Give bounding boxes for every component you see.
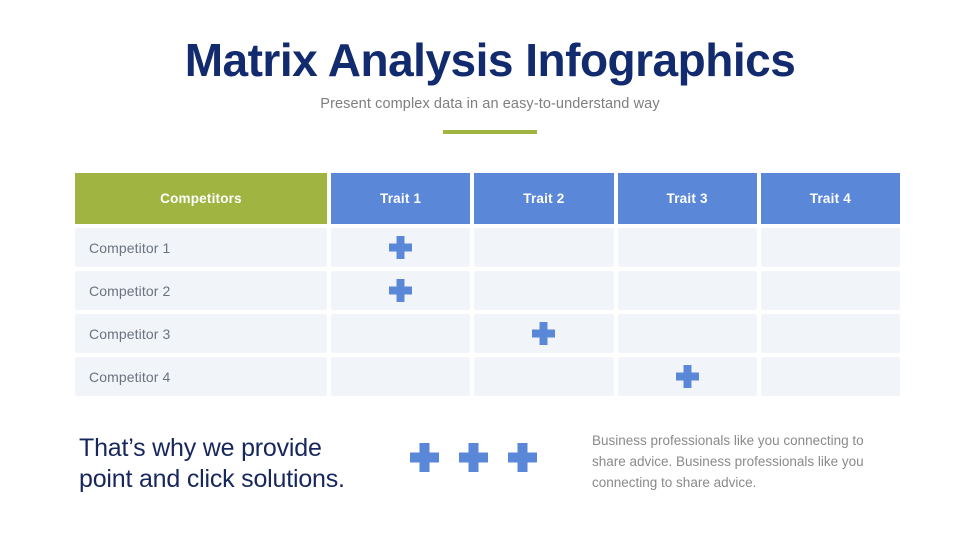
plus-icon [389, 236, 412, 259]
matrix-cell-trait-3[interactable] [618, 357, 757, 396]
row-label: Competitor 3 [89, 326, 170, 342]
plus-icon [459, 443, 488, 472]
column-header-competitors[interactable]: Competitors [75, 173, 327, 224]
matrix-cell-trait-4[interactable] [761, 271, 900, 310]
column-header-trait-2[interactable]: Trait 2 [474, 173, 613, 224]
plus-icon [532, 322, 555, 345]
row-name-cell[interactable]: Competitor 3 [75, 314, 327, 353]
matrix-cell-trait-2[interactable] [474, 228, 613, 267]
matrix-cell-trait-2[interactable] [474, 314, 613, 353]
column-header-label: Trait 4 [810, 191, 851, 206]
column-header-trait-3[interactable]: Trait 3 [618, 173, 757, 224]
table-row: Competitor 1 [75, 228, 900, 267]
bottom-headline-line-1: That’s why we provide [79, 433, 399, 464]
table-row: Competitor 4 [75, 357, 900, 396]
row-name-cell[interactable]: Competitor 4 [75, 357, 327, 396]
column-header-label: Competitors [160, 191, 242, 206]
bottom-plus-icon-group [410, 443, 537, 472]
row-name-cell[interactable]: Competitor 1 [75, 228, 327, 267]
matrix-cell-trait-1[interactable] [331, 357, 470, 396]
page-subtitle: Present complex data in an easy-to-under… [0, 96, 980, 112]
matrix-cell-trait-2[interactable] [474, 357, 613, 396]
row-name-cell[interactable]: Competitor 2 [75, 271, 327, 310]
bottom-headline: That’s why we provide point and click so… [79, 433, 399, 495]
row-label: Competitor 2 [89, 283, 170, 299]
plus-icon [410, 443, 439, 472]
column-header-trait-1[interactable]: Trait 1 [331, 173, 470, 224]
page-title: Matrix Analysis Infographics [0, 36, 980, 84]
table-header-row: Competitors Trait 1 Trait 2 Trait 3 Trai… [75, 173, 900, 224]
plus-icon [676, 365, 699, 388]
matrix-cell-trait-4[interactable] [761, 314, 900, 353]
bottom-section: That’s why we provide point and click so… [0, 425, 980, 535]
matrix-cell-trait-1[interactable] [331, 271, 470, 310]
matrix-cell-trait-4[interactable] [761, 357, 900, 396]
plus-icon [389, 279, 412, 302]
page-header: Matrix Analysis Infographics Present com… [0, 0, 980, 134]
plus-icon [508, 443, 537, 472]
table-body: Competitor 1Competitor 2Competitor 3Comp… [75, 228, 900, 396]
matrix-cell-trait-3[interactable] [618, 228, 757, 267]
matrix-table: Competitors Trait 1 Trait 2 Trait 3 Trai… [75, 173, 900, 400]
table-row: Competitor 2 [75, 271, 900, 310]
column-header-trait-4[interactable]: Trait 4 [761, 173, 900, 224]
matrix-cell-trait-1[interactable] [331, 314, 470, 353]
matrix-cell-trait-4[interactable] [761, 228, 900, 267]
column-header-label: Trait 3 [667, 191, 708, 206]
matrix-cell-trait-1[interactable] [331, 228, 470, 267]
row-label: Competitor 4 [89, 369, 170, 385]
row-label: Competitor 1 [89, 240, 170, 256]
accent-divider [443, 130, 537, 134]
matrix-cell-trait-2[interactable] [474, 271, 613, 310]
column-header-label: Trait 1 [380, 191, 421, 206]
column-header-label: Trait 2 [523, 191, 564, 206]
matrix-cell-trait-3[interactable] [618, 271, 757, 310]
bottom-body-text: Business professionals like you connecti… [592, 430, 892, 493]
matrix-cell-trait-3[interactable] [618, 314, 757, 353]
bottom-headline-line-2: point and click solutions. [79, 464, 399, 495]
table-row: Competitor 3 [75, 314, 900, 353]
